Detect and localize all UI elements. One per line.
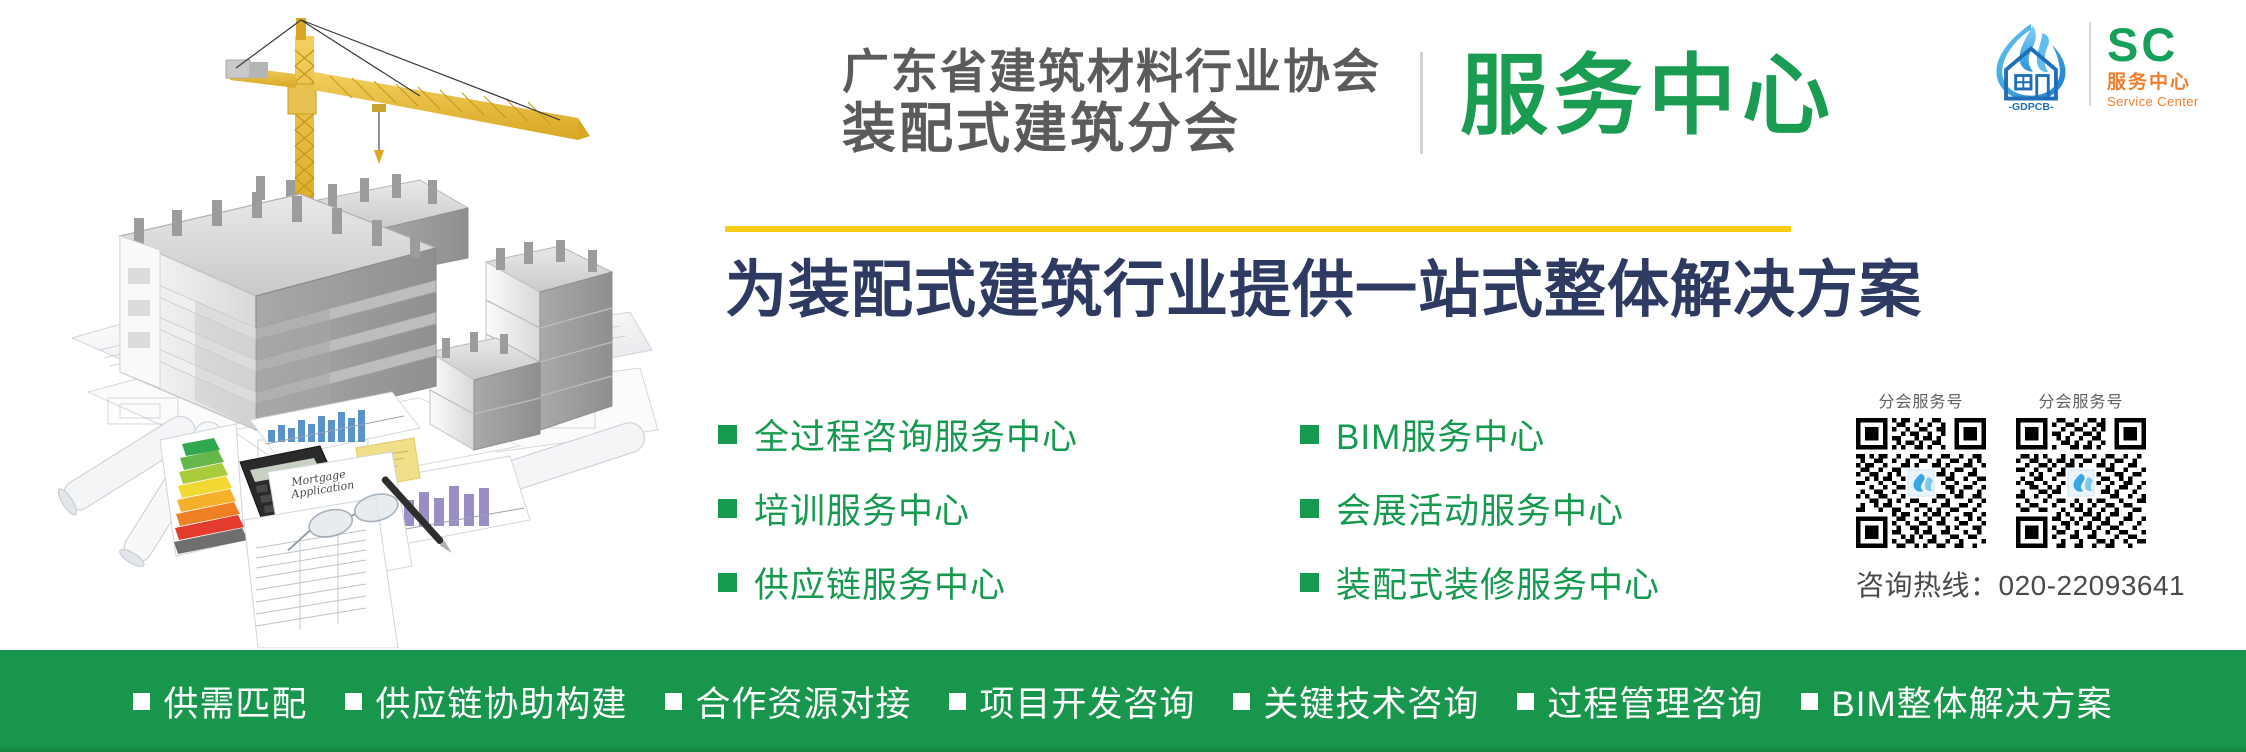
logo-wordmark: SC 服务中心 Service Center — [2107, 21, 2199, 108]
qr-caption: 分会服务号 — [1856, 388, 1986, 412]
service-item-label: 供应链服务中心 — [754, 557, 1006, 608]
service-item[interactable]: BIM服务中心 — [1300, 408, 1660, 460]
bullet-square-icon — [949, 693, 966, 710]
bottom-bar-item[interactable]: 项目开发咨询 — [949, 676, 1195, 727]
service-item[interactable]: 供应链服务中心 — [718, 556, 1078, 608]
association-name-line1: 广东省建筑材料行业协会 — [842, 48, 1412, 96]
bottom-bar-item[interactable]: BIM整体解决方案 — [1801, 676, 2112, 727]
bottom-service-bar: 供需匹配 供应链协助构建 合作资源对接 项目开发咨询 关键技术咨询 过程管理咨询… — [0, 650, 2246, 752]
title-vertical-divider — [1420, 52, 1423, 154]
bullet-square-icon — [718, 499, 737, 518]
service-item-label: 全过程咨询服务中心 — [754, 409, 1078, 460]
bottom-bar-label: 关键技术咨询 — [1263, 676, 1479, 727]
bottom-bar-label: 供需匹配 — [163, 676, 307, 727]
qr-code-icon — [2016, 418, 2146, 548]
bottom-bar-label: 供应链协助构建 — [375, 676, 627, 727]
service-item-label: 会展活动服务中心 — [1336, 483, 1624, 534]
bottom-bar-item[interactable]: 合作资源对接 — [665, 676, 911, 727]
service-center-heading: 服务中心 — [1460, 50, 1836, 142]
bullet-square-icon — [1300, 425, 1319, 444]
main-slogan: 为装配式建筑行业提供一站式整体解决方案 — [725, 252, 1825, 330]
bottom-bar-label: 项目开发咨询 — [979, 676, 1195, 727]
qr-row: 分会服务号 — [1856, 388, 2236, 548]
bottom-bar-item[interactable]: 供需匹配 — [133, 676, 307, 727]
association-name-line2: 装配式建筑分会 — [842, 102, 1412, 157]
banner-root: Mortgage Application 广东省建筑材料行业协会 装配式建筑 — [0, 0, 2246, 752]
service-list-right: BIM服务中心 会展活动服务中心 装配式装修服务中心 — [1300, 408, 1660, 630]
bullet-square-icon — [718, 573, 737, 592]
bullet-square-icon — [1517, 693, 1534, 710]
bullet-square-icon — [718, 425, 737, 444]
service-item[interactable]: 装配式装修服务中心 — [1300, 556, 1660, 608]
service-item[interactable]: 会展活动服务中心 — [1300, 482, 1660, 534]
logo-sc-text: SC — [2107, 21, 2178, 68]
house-flame-icon: -GDPCB- — [1983, 16, 2079, 112]
logo-divider — [2089, 22, 2091, 106]
qr-code-icon — [1856, 418, 1986, 548]
bottom-bar-item[interactable]: 关键技术咨询 — [1233, 676, 1479, 727]
association-title: 广东省建筑材料行业协会 装配式建筑分会 — [842, 48, 1412, 157]
logo-mark-text: -GDPCB- — [2008, 101, 2054, 112]
bullet-square-icon — [1801, 693, 1818, 710]
bullet-square-icon — [665, 693, 682, 710]
bottom-bar-item[interactable]: 供应链协助构建 — [345, 676, 627, 727]
bullet-square-icon — [1300, 573, 1319, 592]
qr-caption: 分会服务号 — [2016, 388, 2146, 412]
bottom-bar-label: BIM整体解决方案 — [1831, 676, 2112, 727]
bottom-bar-label: 合作资源对接 — [695, 676, 911, 727]
bullet-square-icon — [1300, 499, 1319, 518]
bullet-square-icon — [345, 693, 362, 710]
hero-image: Mortgage Application — [0, 0, 660, 648]
construction-scene-illustration: Mortgage Application — [0, 0, 660, 648]
service-item-label: 装配式装修服务中心 — [1336, 557, 1660, 608]
service-item-label: 培训服务中心 — [754, 483, 970, 534]
energy-rating-chart — [160, 424, 248, 556]
qr-contact-block: 分会服务号 — [1856, 388, 2236, 604]
service-list-left: 全过程咨询服务中心 培训服务中心 供应链服务中心 — [718, 408, 1078, 630]
bullet-square-icon — [1233, 693, 1250, 710]
service-item[interactable]: 培训服务中心 — [718, 482, 1078, 534]
bottom-bar-item[interactable]: 过程管理咨询 — [1517, 676, 1763, 727]
bottom-bar-label: 过程管理咨询 — [1547, 676, 1763, 727]
hotline-text: 咨询热线：020-22093641 — [1856, 564, 2236, 604]
qr-cell[interactable]: 分会服务号 — [1856, 388, 1986, 548]
qr-cell[interactable]: 分会服务号 — [2016, 388, 2146, 548]
service-item[interactable]: 全过程咨询服务中心 — [718, 408, 1078, 460]
bullet-square-icon — [133, 693, 150, 710]
logo-cn-text: 服务中心 — [2107, 73, 2191, 92]
service-item-label: BIM服务中心 — [1336, 409, 1545, 460]
brand-logo[interactable]: -GDPCB- SC 服务中心 Service Center — [1983, 14, 2233, 114]
yellow-divider-rule — [725, 226, 1791, 232]
logo-en-text: Service Center — [2107, 95, 2199, 108]
